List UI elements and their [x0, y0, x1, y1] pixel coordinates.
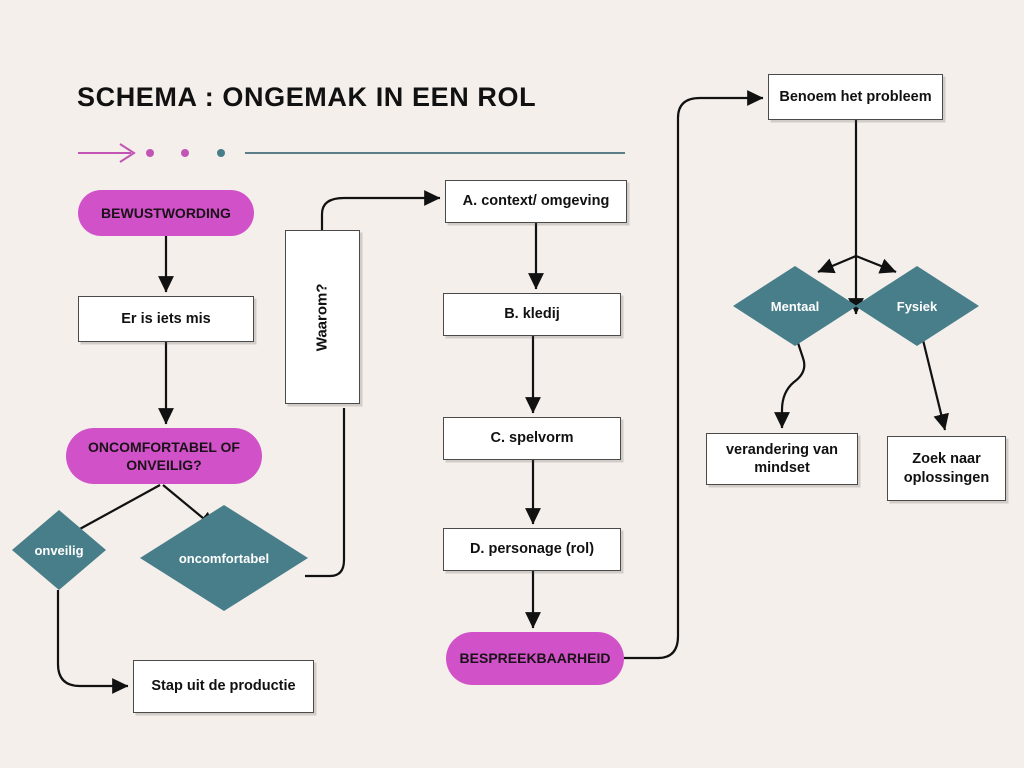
edge-oncomfortabel-to-waarom	[305, 408, 344, 576]
node-benoem-het-probleem[interactable]: Benoem het probleem	[768, 74, 943, 120]
node-spelvorm[interactable]: C. spelvorm	[443, 417, 621, 460]
edge-fysiek-to-oplossingen	[923, 340, 945, 430]
node-bewustwording[interactable]: BEWUSTWORDING	[78, 190, 254, 236]
flowchart-canvas: SCHEMA : ONGEMAK IN EEN ROL	[0, 0, 1024, 768]
node-stap-uit-de-productie[interactable]: Stap uit de productie	[133, 660, 314, 713]
divider-line	[245, 152, 625, 154]
node-waarom[interactable]: Waarom?	[285, 230, 360, 404]
divider-dot-3	[217, 149, 225, 157]
node-onveilig[interactable]: onveilig	[12, 510, 106, 590]
arrow-right-icon	[77, 143, 139, 163]
node-fysiek[interactable]: Fysiek	[855, 266, 979, 346]
edge-waarom-to-context	[322, 198, 440, 230]
node-onveilig-label: onveilig	[34, 543, 83, 558]
edge-onveilig-to-stapuit	[58, 590, 128, 686]
edge-bespreekbaarheid-to-benoem	[624, 98, 763, 658]
node-waarom-label: Waarom?	[313, 283, 332, 351]
divider-dot-1	[146, 149, 154, 157]
edge-benoem-to-fysiek	[856, 256, 896, 272]
node-zoek-naar-oplossingen[interactable]: Zoek naar oplossingen	[887, 436, 1006, 501]
node-mentaal-label: Mentaal	[771, 299, 819, 314]
decorative-divider	[77, 139, 625, 165]
node-bespreekbaarheid[interactable]: BESPREEKBAARHEID	[446, 632, 624, 685]
page-title: SCHEMA : ONGEMAK IN EEN ROL	[77, 82, 536, 113]
node-context-omgeving[interactable]: A. context/ omgeving	[445, 180, 627, 223]
edge-decision-to-onveilig	[78, 485, 160, 530]
edge-mentaal-to-mindset	[782, 340, 804, 428]
node-fysiek-label: Fysiek	[897, 299, 937, 314]
node-er-is-iets-mis[interactable]: Er is iets mis	[78, 296, 254, 342]
node-personage-rol[interactable]: D. personage (rol)	[443, 528, 621, 571]
node-mentaal[interactable]: Mentaal	[733, 266, 857, 346]
node-oncomfortabel[interactable]: oncomfortabel	[140, 505, 308, 611]
node-oncomfortabel-label: oncomfortabel	[179, 551, 269, 566]
node-kledij[interactable]: B. kledij	[443, 293, 621, 336]
edge-benoem-to-mentaal	[818, 256, 856, 272]
node-verandering-van-mindset[interactable]: verandering van mindset	[706, 433, 858, 485]
node-oncomfortabel-of-onveilig[interactable]: ONCOMFORTABEL OF ONVEILIG?	[66, 428, 262, 484]
divider-dot-2	[181, 149, 189, 157]
